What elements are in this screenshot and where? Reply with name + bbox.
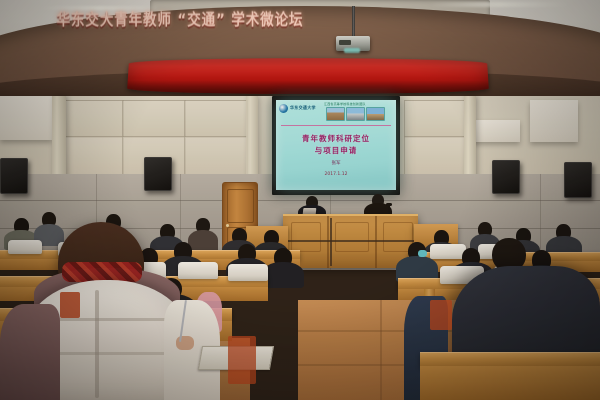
banner-text: 华东交大青年教师 “交通” 学术微论坛 bbox=[0, 0, 360, 39]
face-mask bbox=[418, 250, 427, 257]
wall-tile bbox=[184, 136, 248, 176]
slide-divider bbox=[281, 125, 391, 126]
stone-seam bbox=[0, 200, 600, 201]
floor-tile-line bbox=[380, 300, 382, 400]
slide-thumbnail-railway bbox=[346, 107, 365, 121]
wall-tile bbox=[60, 136, 124, 176]
jacket-seam bbox=[40, 318, 174, 321]
door-knob[interactable] bbox=[226, 224, 229, 227]
audience-body bbox=[188, 230, 218, 252]
wall-tile bbox=[184, 100, 248, 138]
slide-presenter: 张军 bbox=[276, 160, 396, 166]
cable-horizontal bbox=[283, 240, 418, 242]
foreground-person-scarf bbox=[62, 262, 142, 282]
chair-back[interactable] bbox=[8, 240, 42, 254]
desk-front-bottom-right bbox=[420, 366, 600, 400]
wall-panel-white-left bbox=[0, 96, 52, 140]
door-panel-upper bbox=[227, 189, 254, 223]
ceiling-strip-light-right bbox=[430, 2, 570, 7]
chair-back[interactable] bbox=[178, 262, 218, 279]
wall-speaker-far-left bbox=[0, 158, 28, 194]
audience-body bbox=[262, 262, 304, 288]
slide-thumbnail-bridge bbox=[326, 107, 345, 121]
slide-title-line1: 青年教师科研定位 bbox=[276, 133, 396, 144]
projection-screen: 华东交通大学 江西省高等学校科技创新团队 青年教师科研定位 与项目申请 张军 2… bbox=[276, 100, 396, 190]
wall-speaker-left bbox=[144, 157, 172, 191]
slide-date: 2017.1.12 bbox=[276, 172, 396, 177]
banner-highlight bbox=[128, 58, 488, 78]
projector-vent bbox=[339, 40, 351, 45]
microphone-icon bbox=[386, 203, 392, 206]
slide-title-line2: 与项目申请 bbox=[276, 145, 396, 156]
slide-university-name: 华东交通大学 bbox=[290, 105, 316, 111]
podium-seam bbox=[375, 216, 377, 268]
event-banner bbox=[127, 58, 489, 94]
lecture-hall-photo: 华东交大青年教师 “交通” 学术微论坛 华东交通大学 江西省高等学校科技创新团队 bbox=[0, 0, 600, 400]
wall-panel-white-mid bbox=[472, 120, 520, 142]
seat-front-panel bbox=[430, 300, 452, 330]
wall-tile bbox=[404, 100, 466, 138]
wall-speaker-far-right bbox=[564, 162, 592, 198]
university-logo-icon bbox=[279, 104, 288, 113]
wall-tile bbox=[122, 100, 186, 138]
slide-header-note: 江西省高等学校科技创新团队 bbox=[324, 102, 366, 106]
seat-front-panel bbox=[228, 336, 256, 384]
podium-panel bbox=[291, 222, 321, 252]
cable-vertical bbox=[330, 218, 332, 266]
foreground-person-sleeve-left bbox=[0, 304, 60, 400]
podium-seam bbox=[327, 216, 329, 268]
wall-speaker-right bbox=[492, 160, 520, 194]
banner-shadow bbox=[127, 80, 489, 94]
projector-lens bbox=[344, 48, 360, 53]
jacket-seam bbox=[95, 290, 99, 398]
podium-panel bbox=[335, 222, 369, 252]
wall-pillar-center bbox=[246, 96, 258, 182]
wall-panel-white-right bbox=[530, 100, 578, 142]
desk-row-front-right bbox=[420, 352, 600, 367]
chair-back[interactable] bbox=[430, 244, 466, 259]
wall-tile bbox=[404, 136, 466, 176]
wall-tile bbox=[60, 100, 124, 138]
slide-thumbnail-highway bbox=[366, 107, 385, 121]
chair-back[interactable] bbox=[228, 264, 268, 281]
seat-front-panel bbox=[60, 292, 80, 318]
